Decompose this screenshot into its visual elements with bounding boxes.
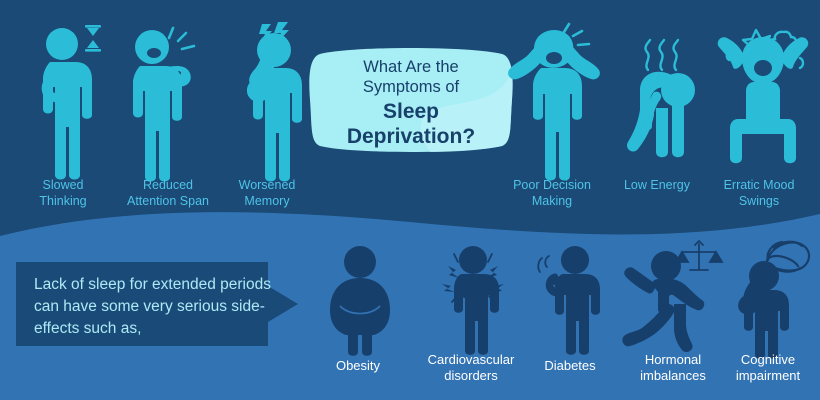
side-effect-figure-obesity	[322, 244, 398, 356]
infographic-canvas: What Are the Symptoms of Sleep Deprivati…	[0, 0, 820, 400]
title-line-4: Deprivation?	[347, 125, 475, 150]
title-line-1: What Are the	[363, 58, 458, 77]
label-line-1: Cardiovascular	[406, 352, 536, 368]
symptom-figure-worsened-memory	[232, 22, 328, 172]
symptom-figure-low-energy	[618, 22, 714, 172]
callout-box: Lack of sleep for extended periods can h…	[16, 262, 298, 346]
symptom-figure-slowed-thinking	[26, 22, 118, 172]
symptom-figure-poor-decision-making	[508, 22, 604, 172]
symptom-figure-reduced-attention	[120, 22, 216, 172]
label-line-1: Worsened	[212, 178, 322, 194]
title-line-2: Symptoms of	[363, 78, 459, 97]
label-line-2: imbalances	[614, 368, 732, 384]
symptom-figure-erratic-mood-swings	[712, 22, 812, 172]
side-effect-figure-cardiovascular	[432, 244, 514, 356]
label-line-2: Swings	[700, 194, 818, 210]
symptom-label-erratic-mood-swings: Erratic Mood Swings	[700, 178, 818, 209]
scribble-cloud-icon	[767, 242, 809, 272]
side-effect-figure-hormonal	[624, 238, 720, 356]
symptom-label-worsened-memory: Worsened Memory	[212, 178, 322, 209]
side-effect-label-cardiovascular: Cardiovascular disorders	[406, 352, 536, 385]
side-effect-figure-cognitive	[730, 238, 814, 356]
side-effect-label-obesity: Obesity	[308, 358, 408, 374]
side-effect-label-diabetes: Diabetes	[518, 358, 622, 374]
hourglass-icon	[85, 25, 101, 52]
label-line-1: Poor Decision	[490, 178, 614, 194]
label-line-2: Memory	[212, 194, 322, 210]
callout-text: Lack of sleep for extended periods can h…	[34, 274, 272, 340]
label-line-1: Low Energy	[602, 178, 712, 194]
label-line-1: Diabetes	[518, 358, 622, 374]
label-line-2: disorders	[406, 368, 536, 384]
balance-scale-icon	[676, 241, 722, 270]
steam-waves-icon	[645, 40, 678, 70]
label-line-1: Cognitive	[716, 352, 820, 368]
injection-icon	[538, 256, 549, 272]
label-line-2: impairment	[716, 368, 820, 384]
label-line-1: Obesity	[308, 358, 408, 374]
side-effect-label-cognitive: Cognitive impairment	[716, 352, 820, 385]
side-effect-figure-diabetes	[533, 244, 611, 356]
symptom-label-poor-decision-making: Poor Decision Making	[490, 178, 614, 209]
symptom-label-low-energy: Low Energy	[602, 178, 712, 194]
label-line-2: Making	[490, 194, 614, 210]
label-line-1: Hormonal	[614, 352, 732, 368]
side-effect-label-hormonal: Hormonal imbalances	[614, 352, 732, 385]
label-line-1: Erratic Mood	[700, 178, 818, 194]
title-line-3: Sleep	[383, 100, 439, 125]
yawn-lines-icon	[169, 28, 194, 49]
page-title: What Are the Symptoms of Sleep Deprivati…	[306, 52, 516, 156]
